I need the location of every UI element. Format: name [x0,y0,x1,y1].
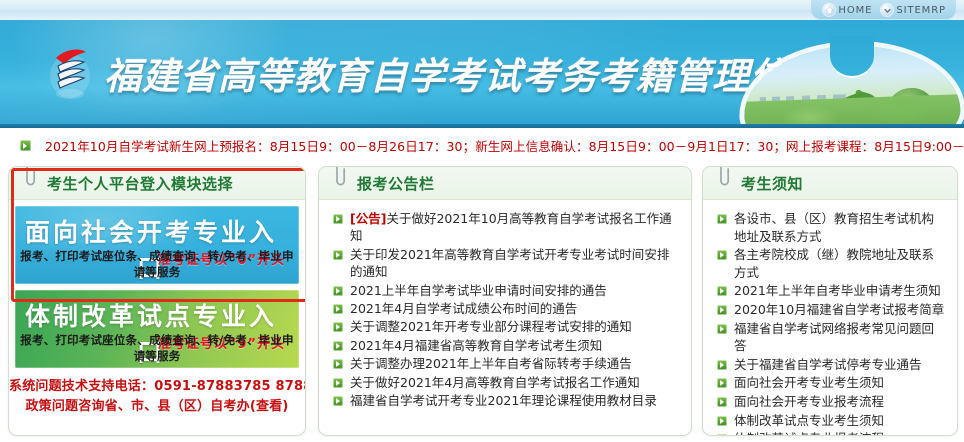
announcement-tag: [公告] [350,211,386,226]
candidate-notice-item[interactable]: 2021年上半年自考毕业申请考生须知 [715,282,945,300]
banner-bottom-rule [0,124,964,128]
arrow-right-icon [717,360,727,370]
announcement-item-text: 关于做好2021年4月高等教育自学考试报名工作通知 [350,375,640,390]
announcement-item-text: 关于做好2021年10月高等教育自学考试报名工作通知 [350,211,672,243]
arrow-right-icon [333,378,343,388]
announcement-item[interactable]: 关于调整办理2021年上半年自考省际转考手续通告 [331,355,679,372]
announcement-item-text: 关于调整2021年开考专业部分课程考试安排的通知 [350,319,632,334]
arrow-right-icon [333,396,343,406]
arrow-right-icon [717,250,727,260]
announcement-item[interactable]: 关于印发2021年高等教育自学考试开考专业考试时间安排的通知 [331,246,679,281]
arrow-right-icon [717,416,727,426]
top-links-group: HOME SITEMRP [811,0,956,20]
support-phone-line: 系统问题技术支持电话：0591-87883785 87881896 [9,377,305,397]
announcement-panel-header: 报考公告栏 [319,167,691,200]
arrow-right-icon [333,214,343,224]
candidate-notice-item-text: 体制改革试点专业考生须知 [734,413,884,428]
candidate-notice-item-text: 关于福建省自学考试停考专业通告 [734,357,922,372]
login-module-panel: 考生个人平台登入模块选择 面向社会开考专业入口 准考证号以“0”开头 报考、打印… [8,166,306,436]
sitemap-link[interactable]: SITEMRP [881,4,946,16]
home-link-label: HOME [838,5,872,16]
candidate-notice-item[interactable]: 面向社会开考专业考生须知 [715,374,945,392]
announcement-item-text: 2021年4月福建省高等教育自学考试考生须知 [350,338,602,353]
announcement-item[interactable]: 2021上半年自学考试毕业申请时间安排的通告 [331,282,679,299]
candidate-notice-panel-title: 考生须知 [741,173,803,194]
sitemap-link-label: SITEMRP [896,5,946,16]
candidate-notice-item-text: 2020年10月福建省自学考试报考简章 [734,302,944,317]
candidate-notice-item-text: 各设市、县（区）教育招生考试机构地址及联系方式 [734,211,934,244]
arrow-right-icon [333,341,343,351]
home-link[interactable]: HOME [823,4,872,16]
entry-public-major[interactable]: 面向社会开考专业入口 准考证号以“0”开头 报考、打印考试座位条、成绩查询、转/… [15,206,299,284]
announcement-list: [公告]关于做好2021年10月高等教育自学考试报名工作通知关于印发2021年高… [329,208,681,409]
candidate-notice-item-text: 2021年上半年自考毕业申请考生须知 [734,283,941,298]
paperclip-icon [333,166,348,193]
entry-public-major-desc: 报考、打印考试座位条、成绩查询、转/免考、毕业申请等服务 [15,248,299,280]
candidate-notice-list: 各设市、县（区）教育招生考试机构地址及联系方式各主考院校成（继）教院地址及联系方… [713,208,947,436]
announcement-item[interactable]: 关于做好2021年4月高等教育自学考试报名工作通知 [331,374,679,391]
candidate-notice-item[interactable]: 福建省自学考试网络报考常见问题回答 [715,320,945,355]
entry-reform-pilot-major[interactable]: 体制改革试点专业入口 准考证号以“9”开头 报考、打印考试座位条、成绩查询、转/… [15,290,299,368]
arrow-right-icon [717,286,727,296]
candidate-notice-item-text: 体制改革试点专业报考流程 [734,431,884,436]
support-contact-block: 系统问题技术支持电话：0591-87883785 87881896 政策问题咨询… [9,377,305,417]
arrow-right-icon [717,434,727,436]
announcement-panel: 报考公告栏 [公告]关于做好2021年10月高等教育自学考试报名工作通知关于印发… [318,166,692,436]
announcement-item[interactable]: 2021年4月自学考试成绩公布时间的通告 [331,300,679,317]
announcement-panel-title: 报考公告栏 [357,173,435,194]
candidate-notice-item[interactable]: 体制改革试点专业考生须知 [715,412,945,430]
top-utility-bar: HOME SITEMRP [0,0,964,21]
arrow-right-icon [333,286,343,296]
arrow-right-icon [333,304,343,314]
announcement-item[interactable]: 2021年4月福建省高等教育自学考试考生须知 [331,337,679,354]
arrow-right-icon [717,305,727,315]
page-root: HOME SITEMRP 福建省高等教育自 [0,0,964,442]
home-icon [823,4,835,16]
candidate-notice-item[interactable]: 各主考院校成（继）教院地址及联系方式 [715,246,945,281]
login-module-panel-title: 考生个人平台登入模块选择 [47,173,233,194]
arrow-right-icon [333,359,343,369]
login-module-panel-header: 考生个人平台登入模块选择 [9,167,305,200]
policy-inquiry-line[interactable]: 政策问题咨询省、市、县（区）自考办(查看) [9,397,305,417]
candidate-notice-item-text: 各主考院校成（继）教院地址及联系方式 [734,247,934,280]
announcement-item-text: 关于调整办理2021年上半年自考省际转考手续通告 [350,356,632,371]
candidate-notice-item[interactable]: 2020年10月福建省自学考试报考简章 [715,301,945,319]
announcement-ticker-text: 2021年10月自学考试新生网上预报名：8月15日9：00－8月26日17：30… [45,136,964,155]
arrow-right-icon [717,324,727,334]
announcement-item[interactable]: 福建省自学考试开考专业2021年理论课程使用教材目录 [331,392,679,409]
arrow-right-icon [717,397,727,407]
candidate-notice-item-text: 福建省自学考试网络报考常见问题回答 [734,321,934,354]
chevron-down-icon [881,4,893,16]
announcement-item-text: 关于印发2021年高等教育自学考试开考专业考试时间安排的通知 [350,247,669,279]
fujian-self-study-exam-logo [46,42,94,102]
arrow-right-icon [717,214,727,224]
candidate-notice-item[interactable]: 关于福建省自学考试停考专业通告 [715,356,945,374]
arrow-right-icon [20,140,31,151]
arrow-right-icon [717,378,727,388]
candidate-notice-item-text: 面向社会开考专业考生须知 [734,375,884,390]
candidate-notice-item[interactable]: 体制改革试点专业报考流程 [715,430,945,436]
candidate-notice-item[interactable]: 各设市、县（区）教育招生考试机构地址及联系方式 [715,210,945,245]
paperclip-icon [717,166,732,193]
candidate-notice-panel: 考生须知 各设市、县（区）教育招生考试机构地址及联系方式各主考院校成（继）教院地… [702,166,958,436]
candidate-notice-item[interactable]: 面向社会开考专业报考流程 [715,393,945,411]
announcement-item-text: 2021上半年自学考试毕业申请时间安排的通告 [350,283,607,298]
site-banner: 福建省高等教育自学考试考务考籍管理信息系统 v 5.5 [0,20,964,128]
arrow-right-icon [333,322,343,332]
content-columns: 考生个人平台登入模块选择 面向社会开考专业入口 准考证号以“0”开头 报考、打印… [0,162,964,442]
announcement-item[interactable]: [公告]关于做好2021年10月高等教育自学考试报名工作通知 [331,210,679,245]
candidate-notice-panel-header: 考生须知 [703,167,957,200]
paperclip-icon [23,166,38,193]
announcement-ticker[interactable]: 2021年10月自学考试新生网上预报名：8月15日9：00－8月26日17：30… [0,129,964,162]
heart-shaped-nature-illustration [734,30,964,128]
candidate-notice-item-text: 面向社会开考专业报考流程 [734,394,884,409]
entry-reform-pilot-major-desc: 报考、打印考试座位条、成绩查询、转/免考、毕业申请等服务 [15,332,299,364]
arrow-right-icon [333,250,343,260]
announcement-item-text: 福建省自学考试开考专业2021年理论课程使用教材目录 [350,393,657,408]
announcement-item[interactable]: 关于调整2021年开考专业部分课程考试安排的通知 [331,318,679,335]
announcement-item-text: 2021年4月自学考试成绩公布时间的通告 [350,301,577,316]
